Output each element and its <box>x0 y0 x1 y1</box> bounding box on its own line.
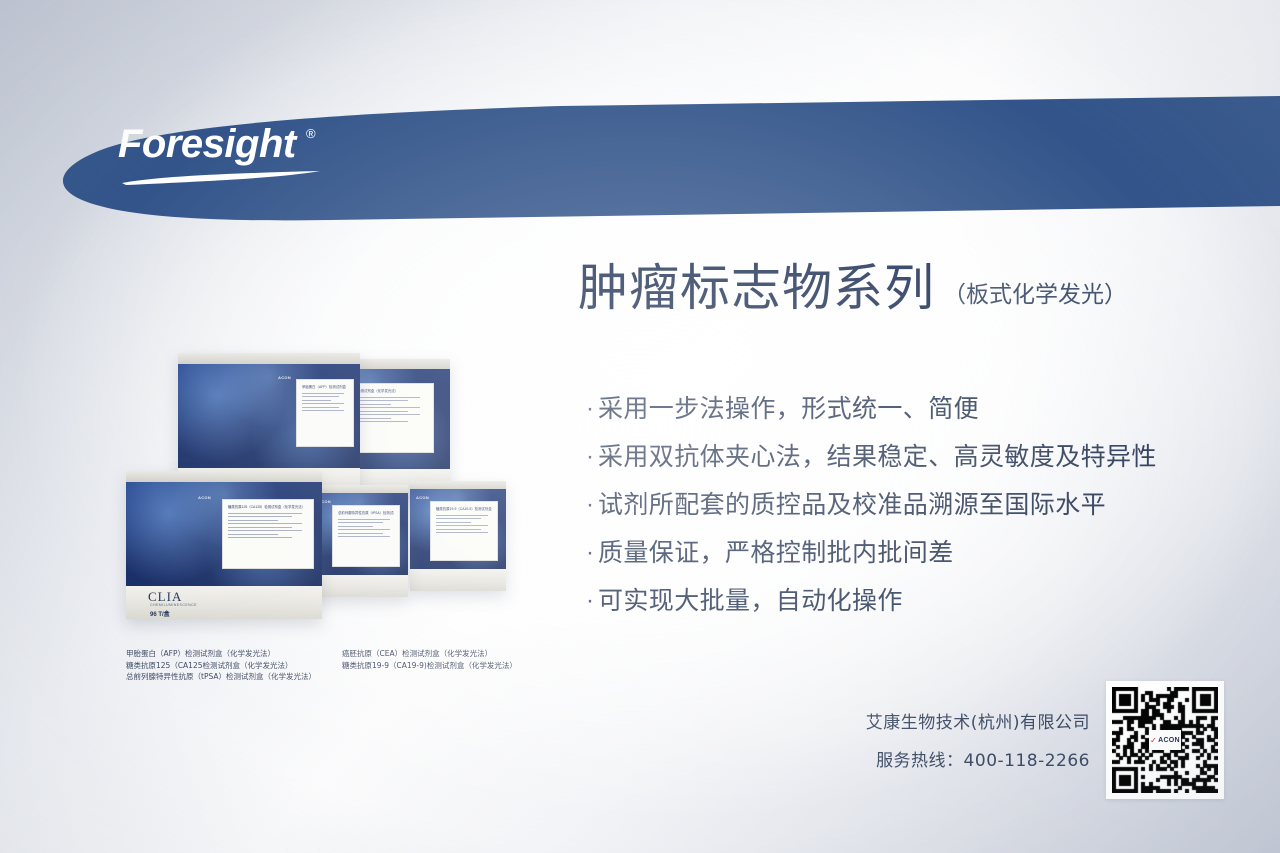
bullet-dot-icon: · <box>586 392 598 426</box>
product-box: ACON 糖类抗原125（CA125）检测试剂盒（化学发光法） CLIA CHE… <box>126 471 322 619</box>
box-brand-text: ACON <box>278 375 291 380</box>
feature-text: 试剂所配套的质控品及校准品溯源至国际水平 <box>598 488 1106 522</box>
feature-text: 可实现大批量，自动化操作 <box>598 584 903 618</box>
product-list-left-column: 甲胎蛋白（AFP）检测试剂盒（化学发光法） 糖类抗原125（CA125检测试剂盒… <box>126 648 326 683</box>
bullet-dot-icon: · <box>586 488 598 522</box>
title-main-text: 肿瘤标志物系列 <box>578 262 935 315</box>
box-label: 糖类抗原125（CA125）检测试剂盒（化学发光法） <box>222 499 314 569</box>
service-hotline: 服务热线：400-118-2266 <box>866 746 1090 776</box>
qr-code[interactable]: ✓ACON <box>1106 681 1224 799</box>
box-brand-text: ACON <box>198 495 211 500</box>
company-name: 艾康生物技术(杭州)有限公司 <box>866 708 1090 738</box>
list-item: · 采用一步法操作，形式统一、简便 <box>586 392 1246 426</box>
product-photo: ACON 癌胚抗原（CEA）检测试剂盒（化学发光法） ACON 甲胎蛋白（AFP… <box>122 333 522 623</box>
poster-canvas: Foresight ® 肿瘤标志物系列 （板式化学发光） · 采用一步法操作，形… <box>0 0 1280 853</box>
bullet-dot-icon: · <box>586 584 598 618</box>
product-box: ACON 总前列腺特异性抗原（tPSA）检测试剂盒（化学发光法） <box>312 485 408 597</box>
list-item: · 试剂所配套的质控品及校准品溯源至国际水平 <box>586 488 1246 522</box>
bullet-dot-icon: · <box>586 440 598 474</box>
header-banner: Foresight ® <box>0 88 1280 238</box>
box-brand-text: ACON <box>416 495 429 500</box>
feature-text: 采用双抗体夹心法，结果稳定、高灵敏度及特异性 <box>598 440 1157 474</box>
footer-contact: 艾康生物技术(杭州)有限公司 服务热线：400-118-2266 <box>866 708 1090 776</box>
list-item: · 可实现大批量，自动化操作 <box>586 584 1246 618</box>
assay-sub-text: CHEMILUMINESCENCE <box>150 603 197 607</box>
acon-check-icon: ✓ <box>1150 736 1157 745</box>
qr-center-logo: ✓ACON <box>1149 730 1181 750</box>
feature-text: 质量保证，严格控制批内批间差 <box>598 536 954 570</box>
box-label: 糖类抗原19-9（CA19-9）检测试剂盒（化学发光法） <box>430 501 498 561</box>
page-title: 肿瘤标志物系列 （板式化学发光） <box>578 262 1127 315</box>
box-label-title: 甲胎蛋白（AFP）检测试剂盒（化学发光法） <box>302 384 348 390</box>
list-item: 糖类抗原125（CA125检测试剂盒（化学发光法） <box>126 660 326 672</box>
feature-text: 采用一步法操作，形式统一、简便 <box>598 392 979 426</box>
product-list-right-column: 癌胚抗原（CEA）检测试剂盒（化学发光法） 糖类抗原19-9（CA19-9)检测… <box>342 648 542 683</box>
product-name-list: 甲胎蛋白（AFP）检测试剂盒（化学发光法） 糖类抗原125（CA125检测试剂盒… <box>126 648 546 683</box>
list-item: 总前列腺特异性抗原（tPSA）检测试剂盒（化学发光法） <box>126 671 326 683</box>
registered-trademark-icon: ® <box>306 126 316 141</box>
list-item: · 采用双抗体夹心法，结果稳定、高灵敏度及特异性 <box>586 440 1246 474</box>
brand-name: Foresight <box>118 124 296 164</box>
qr-logo-text: ACON <box>1158 737 1180 744</box>
list-item: · 质量保证，严格控制批内批间差 <box>586 536 1246 570</box>
box-label-title: 糖类抗原125（CA125）检测试剂盒（化学发光法） <box>228 504 308 510</box>
box-label-title: 总前列腺特异性抗原（tPSA）检测试剂盒（化学发光法） <box>338 510 394 516</box>
box-label: 总前列腺特异性抗原（tPSA）检测试剂盒（化学发光法） <box>332 505 400 567</box>
feature-list: · 采用一步法操作，形式统一、简便 · 采用双抗体夹心法，结果稳定、高灵敏度及特… <box>586 392 1246 632</box>
list-item: 糖类抗原19-9（CA19-9)检测试剂盒（化学发光法） <box>342 660 542 672</box>
brand-underline-swoosh <box>120 170 330 186</box>
test-count-text: 96 T/盒 <box>150 609 170 618</box>
brand-logo: Foresight ® <box>118 124 438 194</box>
bullet-dot-icon: · <box>586 536 598 570</box>
list-item: 癌胚抗原（CEA）检测试剂盒（化学发光法） <box>342 648 542 660</box>
box-label: 甲胎蛋白（AFP）检测试剂盒（化学发光法） <box>296 379 354 447</box>
list-item: 甲胎蛋白（AFP）检测试剂盒（化学发光法） <box>126 648 326 660</box>
box-label-title: 糖类抗原19-9（CA19-9）检测试剂盒（化学发光法） <box>436 506 492 512</box>
title-subtitle-text: （板式化学发光） <box>943 275 1127 315</box>
product-box: ACON 糖类抗原19-9（CA19-9）检测试剂盒（化学发光法） <box>410 481 506 591</box>
